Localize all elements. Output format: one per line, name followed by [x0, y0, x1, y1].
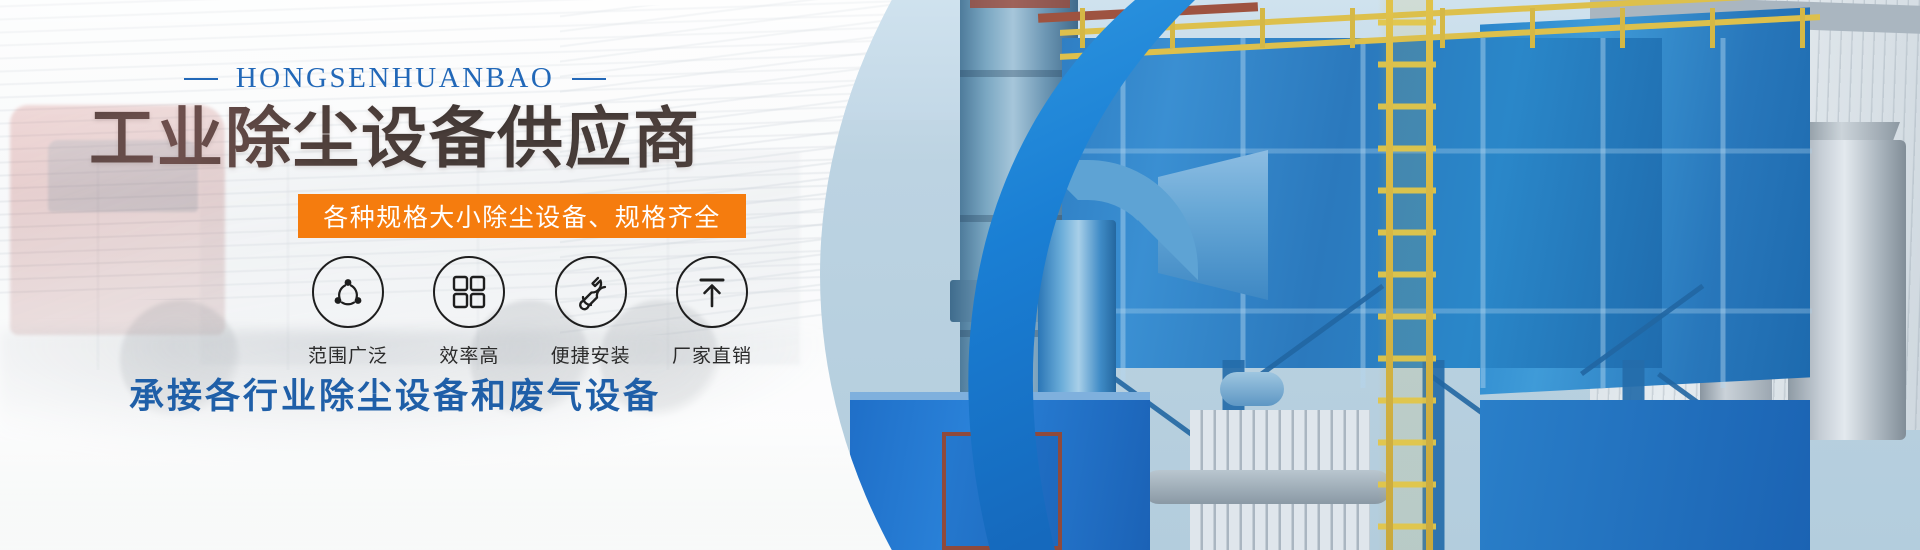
railing-post — [1350, 8, 1355, 48]
railing-post — [1800, 8, 1805, 48]
industrial-baghouse-dust-collector-photo — [790, 0, 1920, 550]
stack-band — [960, 70, 1078, 77]
ladder-rail-left — [1386, 0, 1393, 550]
blue-box-access-door — [942, 432, 1062, 550]
feature-list: 范围广泛 效率高 — [300, 256, 760, 368]
feature-item-easy-install[interactable]: 便捷安装 — [543, 256, 639, 368]
share-network-icon — [312, 256, 384, 328]
subtitle-text: 各种规格大小除尘设备、规格齐全 — [323, 198, 721, 234]
eyebrow-row: HONGSENHUANBAO — [0, 62, 790, 95]
railing-post — [1080, 8, 1085, 48]
railing-post — [1620, 8, 1625, 48]
dash-rule-right-icon — [572, 78, 606, 80]
banner-content: HONGSENHUANBAO 工业除尘设备供应商 各种规格大小除尘设备、规格齐全 — [0, 0, 860, 550]
feature-label: 便捷安装 — [543, 341, 639, 368]
railing-post — [1710, 8, 1715, 48]
feature-label: 范围广泛 — [300, 341, 396, 368]
railing-post — [1530, 8, 1535, 48]
grid-four-squares-icon — [433, 256, 505, 328]
railing-post — [1260, 8, 1265, 48]
feature-item-high-efficiency[interactable]: 效率高 — [421, 256, 517, 368]
brand-pinyin: HONGSENHUANBAO — [236, 62, 555, 95]
subtitle-highlight-bar: 各种规格大小除尘设备、规格齐全 — [298, 194, 746, 238]
feature-label: 厂家直销 — [664, 341, 760, 368]
dash-rule-left-icon — [184, 78, 218, 80]
feature-item-factory-direct[interactable]: 厂家直销 — [664, 256, 760, 368]
tagline-text: 承接各行业除尘设备和废气设备 — [0, 368, 790, 419]
lower-grey-duct — [1142, 470, 1392, 504]
hero-banner: HONGSENHUANBAO 工业除尘设备供应商 各种规格大小除尘设备、规格齐全 — [0, 0, 1920, 550]
small-cylinder-tank — [1220, 372, 1284, 406]
railing-post — [1170, 8, 1175, 48]
wrench-tool-icon — [555, 256, 627, 328]
railing-post — [1440, 8, 1445, 48]
stack-top-collar — [970, 0, 1070, 8]
upload-arrow-icon — [676, 256, 748, 328]
feature-item-wide-range[interactable]: 范围广泛 — [300, 256, 396, 368]
blue-box-top-edge — [850, 392, 1150, 400]
ladder-rail-right — [1426, 0, 1433, 550]
lower-blue-panel-right — [1480, 400, 1810, 550]
page-title: 工业除尘设备供应商 — [0, 100, 790, 177]
feature-label: 效率高 — [421, 341, 517, 368]
photo-base — [790, 0, 1920, 550]
top-walkway-railing — [1060, 4, 1820, 60]
